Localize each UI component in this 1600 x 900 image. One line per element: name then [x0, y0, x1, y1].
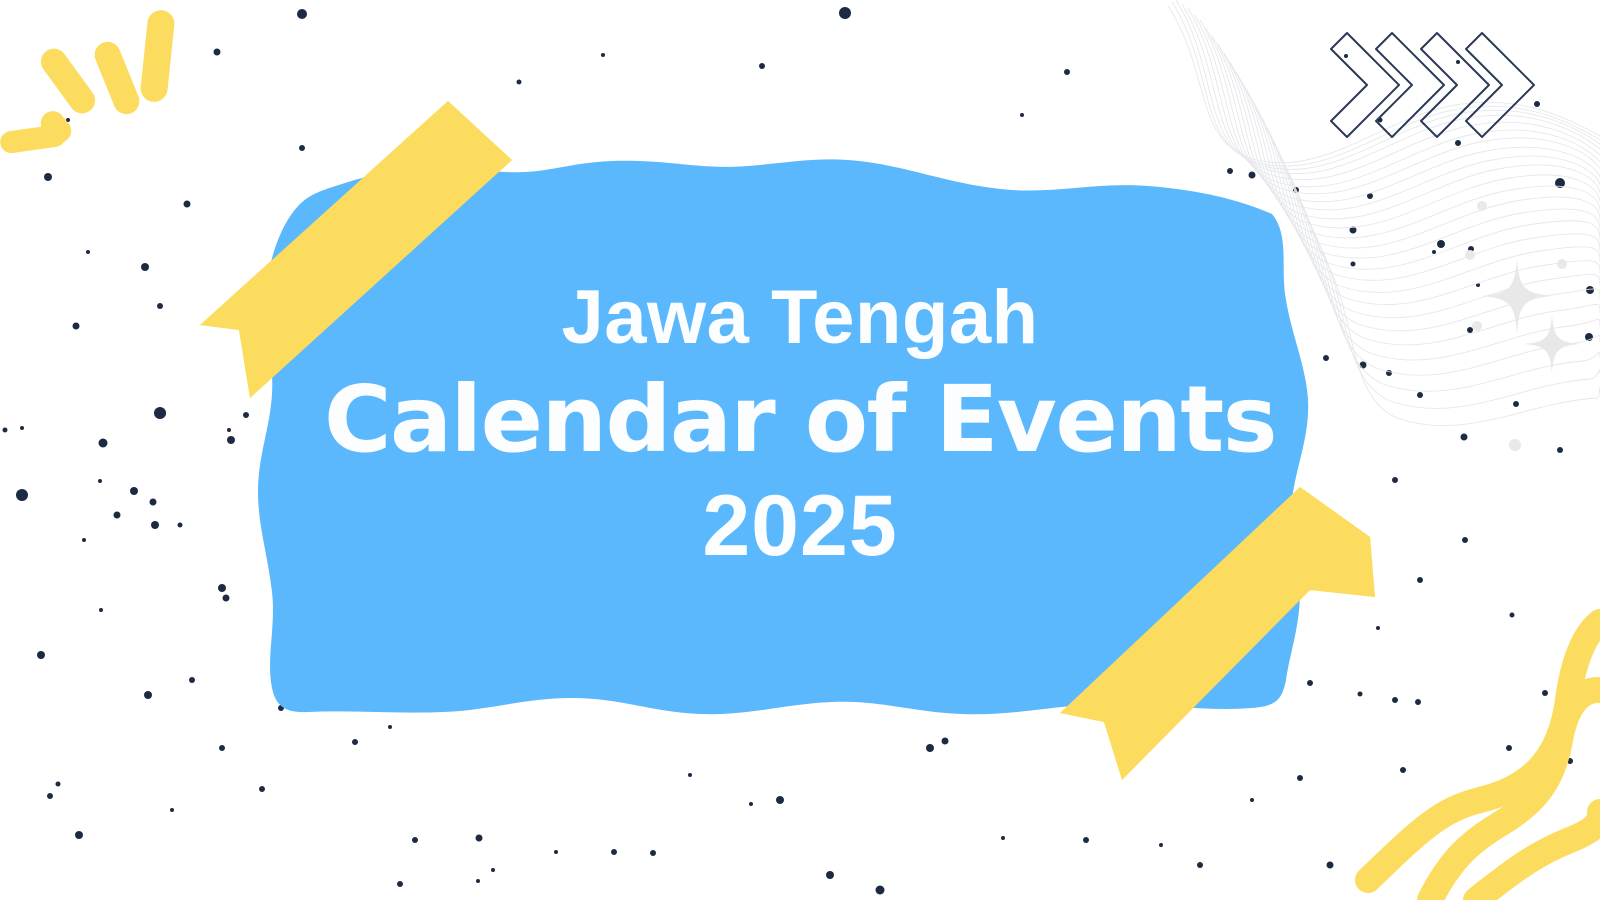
chevron-right-icon	[1376, 33, 1444, 137]
title-block: Jawa Tengah Calendar of Events 2025	[0, 272, 1600, 576]
subtitle-text: Jawa Tengah	[0, 272, 1600, 364]
year-text: 2025	[0, 476, 1600, 576]
poster-canvas: Jawa Tengah Calendar of Events 2025	[0, 0, 1600, 900]
chevron-right-icon	[1331, 33, 1399, 137]
chevron-right-icon	[1466, 33, 1534, 137]
page-title: Calendar of Events	[0, 364, 1600, 476]
chevron-right-icon	[1421, 33, 1489, 137]
